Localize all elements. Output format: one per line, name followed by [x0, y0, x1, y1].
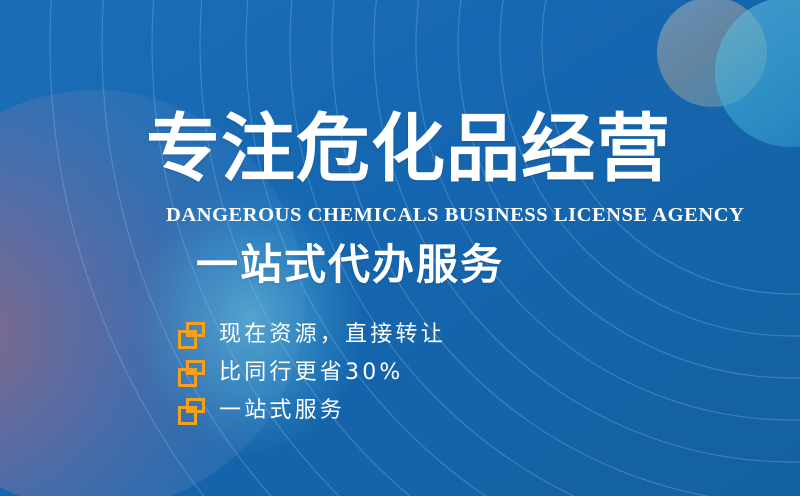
list-item: 比同行更省30% [178, 354, 446, 392]
page-title: 专注危化品经营 [146, 112, 671, 186]
english-subtitle: DANGEROUS CHEMICALS BUSINESS LICENSE AGE… [166, 204, 744, 227]
sub-headline: 一站式代办服务 [196, 244, 504, 286]
promo-banner: 专注危化品经营 DANGEROUS CHEMICALS BUSINESS LIC… [0, 0, 800, 496]
overlapping-squares-icon [178, 322, 205, 349]
list-item-label: 比同行更省30% [219, 362, 404, 384]
overlapping-squares-icon [178, 360, 205, 387]
list-item-label: 现在资源，直接转让 [219, 324, 446, 346]
feature-list: 现在资源，直接转让 比同行更省30% [178, 316, 446, 430]
list-item: 一站式服务 [178, 392, 446, 430]
list-item-label: 一站式服务 [219, 400, 345, 422]
overlapping-squares-icon [178, 398, 205, 425]
list-item: 现在资源，直接转让 [178, 316, 446, 354]
